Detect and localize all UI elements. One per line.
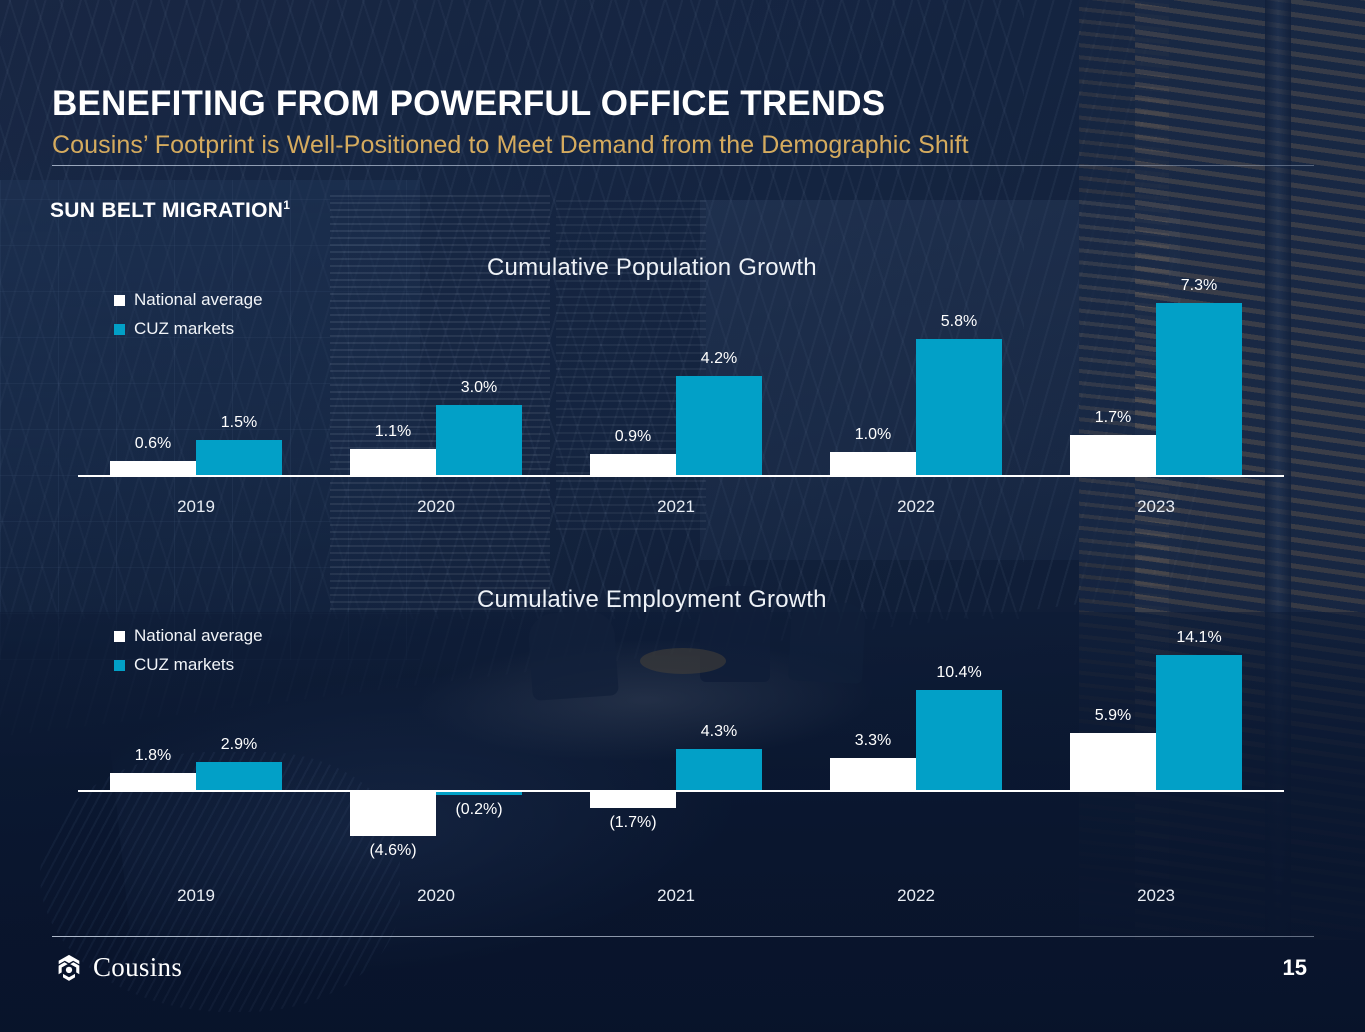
bar-value-label: 14.1% [1138, 629, 1260, 647]
x-axis-label-2019: 2019 [70, 497, 322, 517]
cousins-logo: Cousins [54, 952, 182, 983]
header-divider [52, 165, 1314, 166]
legend-swatch-icon [114, 631, 125, 642]
section-heading-footnote: 1 [283, 198, 290, 212]
footer-divider [52, 936, 1314, 937]
x-axis-label-2023: 2023 [1030, 886, 1282, 906]
bar-population-2021-cuz [676, 376, 762, 475]
bar-population-2023-cuz [1156, 303, 1242, 475]
section-heading-label: SUN BELT MIGRATION [50, 199, 283, 222]
legend-item-cuz-markets: CUZ markets [114, 319, 263, 339]
section-heading: SUN BELT MIGRATION1 [50, 198, 290, 223]
x-axis-label-2021: 2021 [550, 886, 802, 906]
bar-employment-2021-cuz [676, 749, 762, 790]
bar-employment-2019-national [110, 773, 196, 790]
bar-value-label: (0.2%) [418, 801, 540, 819]
bar-population-2022-cuz [916, 339, 1002, 475]
legend-swatch-icon [114, 324, 125, 335]
bar-value-label: 10.4% [898, 664, 1020, 682]
cousins-logo-text: Cousins [93, 952, 182, 983]
bar-population-2019-national [110, 461, 196, 475]
x-axis-label-2020: 2020 [310, 497, 562, 517]
bar-value-label: 4.2% [658, 350, 780, 368]
cousins-pinwheel-icon [54, 953, 84, 983]
bar-value-label: (1.7%) [572, 814, 694, 832]
bar-employment-2022-cuz [916, 690, 1002, 790]
x-axis-label-2022: 2022 [790, 886, 1042, 906]
bar-employment-2022-national [830, 758, 916, 790]
bar-employment-2019-cuz [196, 762, 282, 790]
bar-population-2019-cuz [196, 440, 282, 475]
bar-value-label: 1.5% [178, 414, 300, 432]
x-axis-label-2023: 2023 [1030, 497, 1282, 517]
x-axis-label-2019: 2019 [70, 886, 322, 906]
x-axis-label-2022: 2022 [790, 497, 1042, 517]
chart-axis-line-population [78, 475, 1284, 477]
legend-item-label: National average [134, 626, 263, 646]
chart-legend-population: National averageCUZ markets [114, 290, 263, 348]
bar-population-2020-national [350, 449, 436, 475]
bar-value-label: 5.8% [898, 313, 1020, 331]
chart-title-population: Cumulative Population Growth [487, 254, 817, 282]
page-title: BENEFITING FROM POWERFUL OFFICE TRENDS [52, 84, 885, 124]
legend-item-label: CUZ markets [134, 319, 234, 339]
x-axis-label-2020: 2020 [310, 886, 562, 906]
x-axis-label-2021: 2021 [550, 497, 802, 517]
chart-title-employment: Cumulative Employment Growth [477, 586, 827, 614]
bar-population-2023-national [1070, 435, 1156, 475]
bar-employment-2023-national [1070, 733, 1156, 790]
bar-value-label: 3.0% [418, 379, 540, 397]
bar-value-label: 2.9% [178, 736, 300, 754]
page-number: 15 [1283, 955, 1307, 981]
bar-value-label: (4.6%) [332, 842, 454, 860]
bar-population-2021-national [590, 454, 676, 475]
bar-employment-2020-cuz [436, 792, 522, 795]
chart-legend-employment: National averageCUZ markets [114, 626, 263, 684]
chart-axis-line-employment [78, 790, 1284, 792]
legend-item-label: CUZ markets [134, 655, 234, 675]
bar-population-2020-cuz [436, 405, 522, 476]
bar-employment-2023-cuz [1156, 655, 1242, 790]
legend-swatch-icon [114, 295, 125, 306]
legend-item-national-average: National average [114, 626, 263, 646]
legend-item-label: National average [134, 290, 263, 310]
bar-value-label: 4.3% [658, 723, 780, 741]
bar-employment-2021-national [590, 792, 676, 808]
legend-item-national-average: National average [114, 290, 263, 310]
bar-value-label: 7.3% [1138, 277, 1260, 295]
legend-item-cuz-markets: CUZ markets [114, 655, 263, 675]
bar-population-2022-national [830, 452, 916, 476]
page-subtitle: Cousins’ Footprint is Well-Positioned to… [52, 131, 969, 160]
legend-swatch-icon [114, 660, 125, 671]
